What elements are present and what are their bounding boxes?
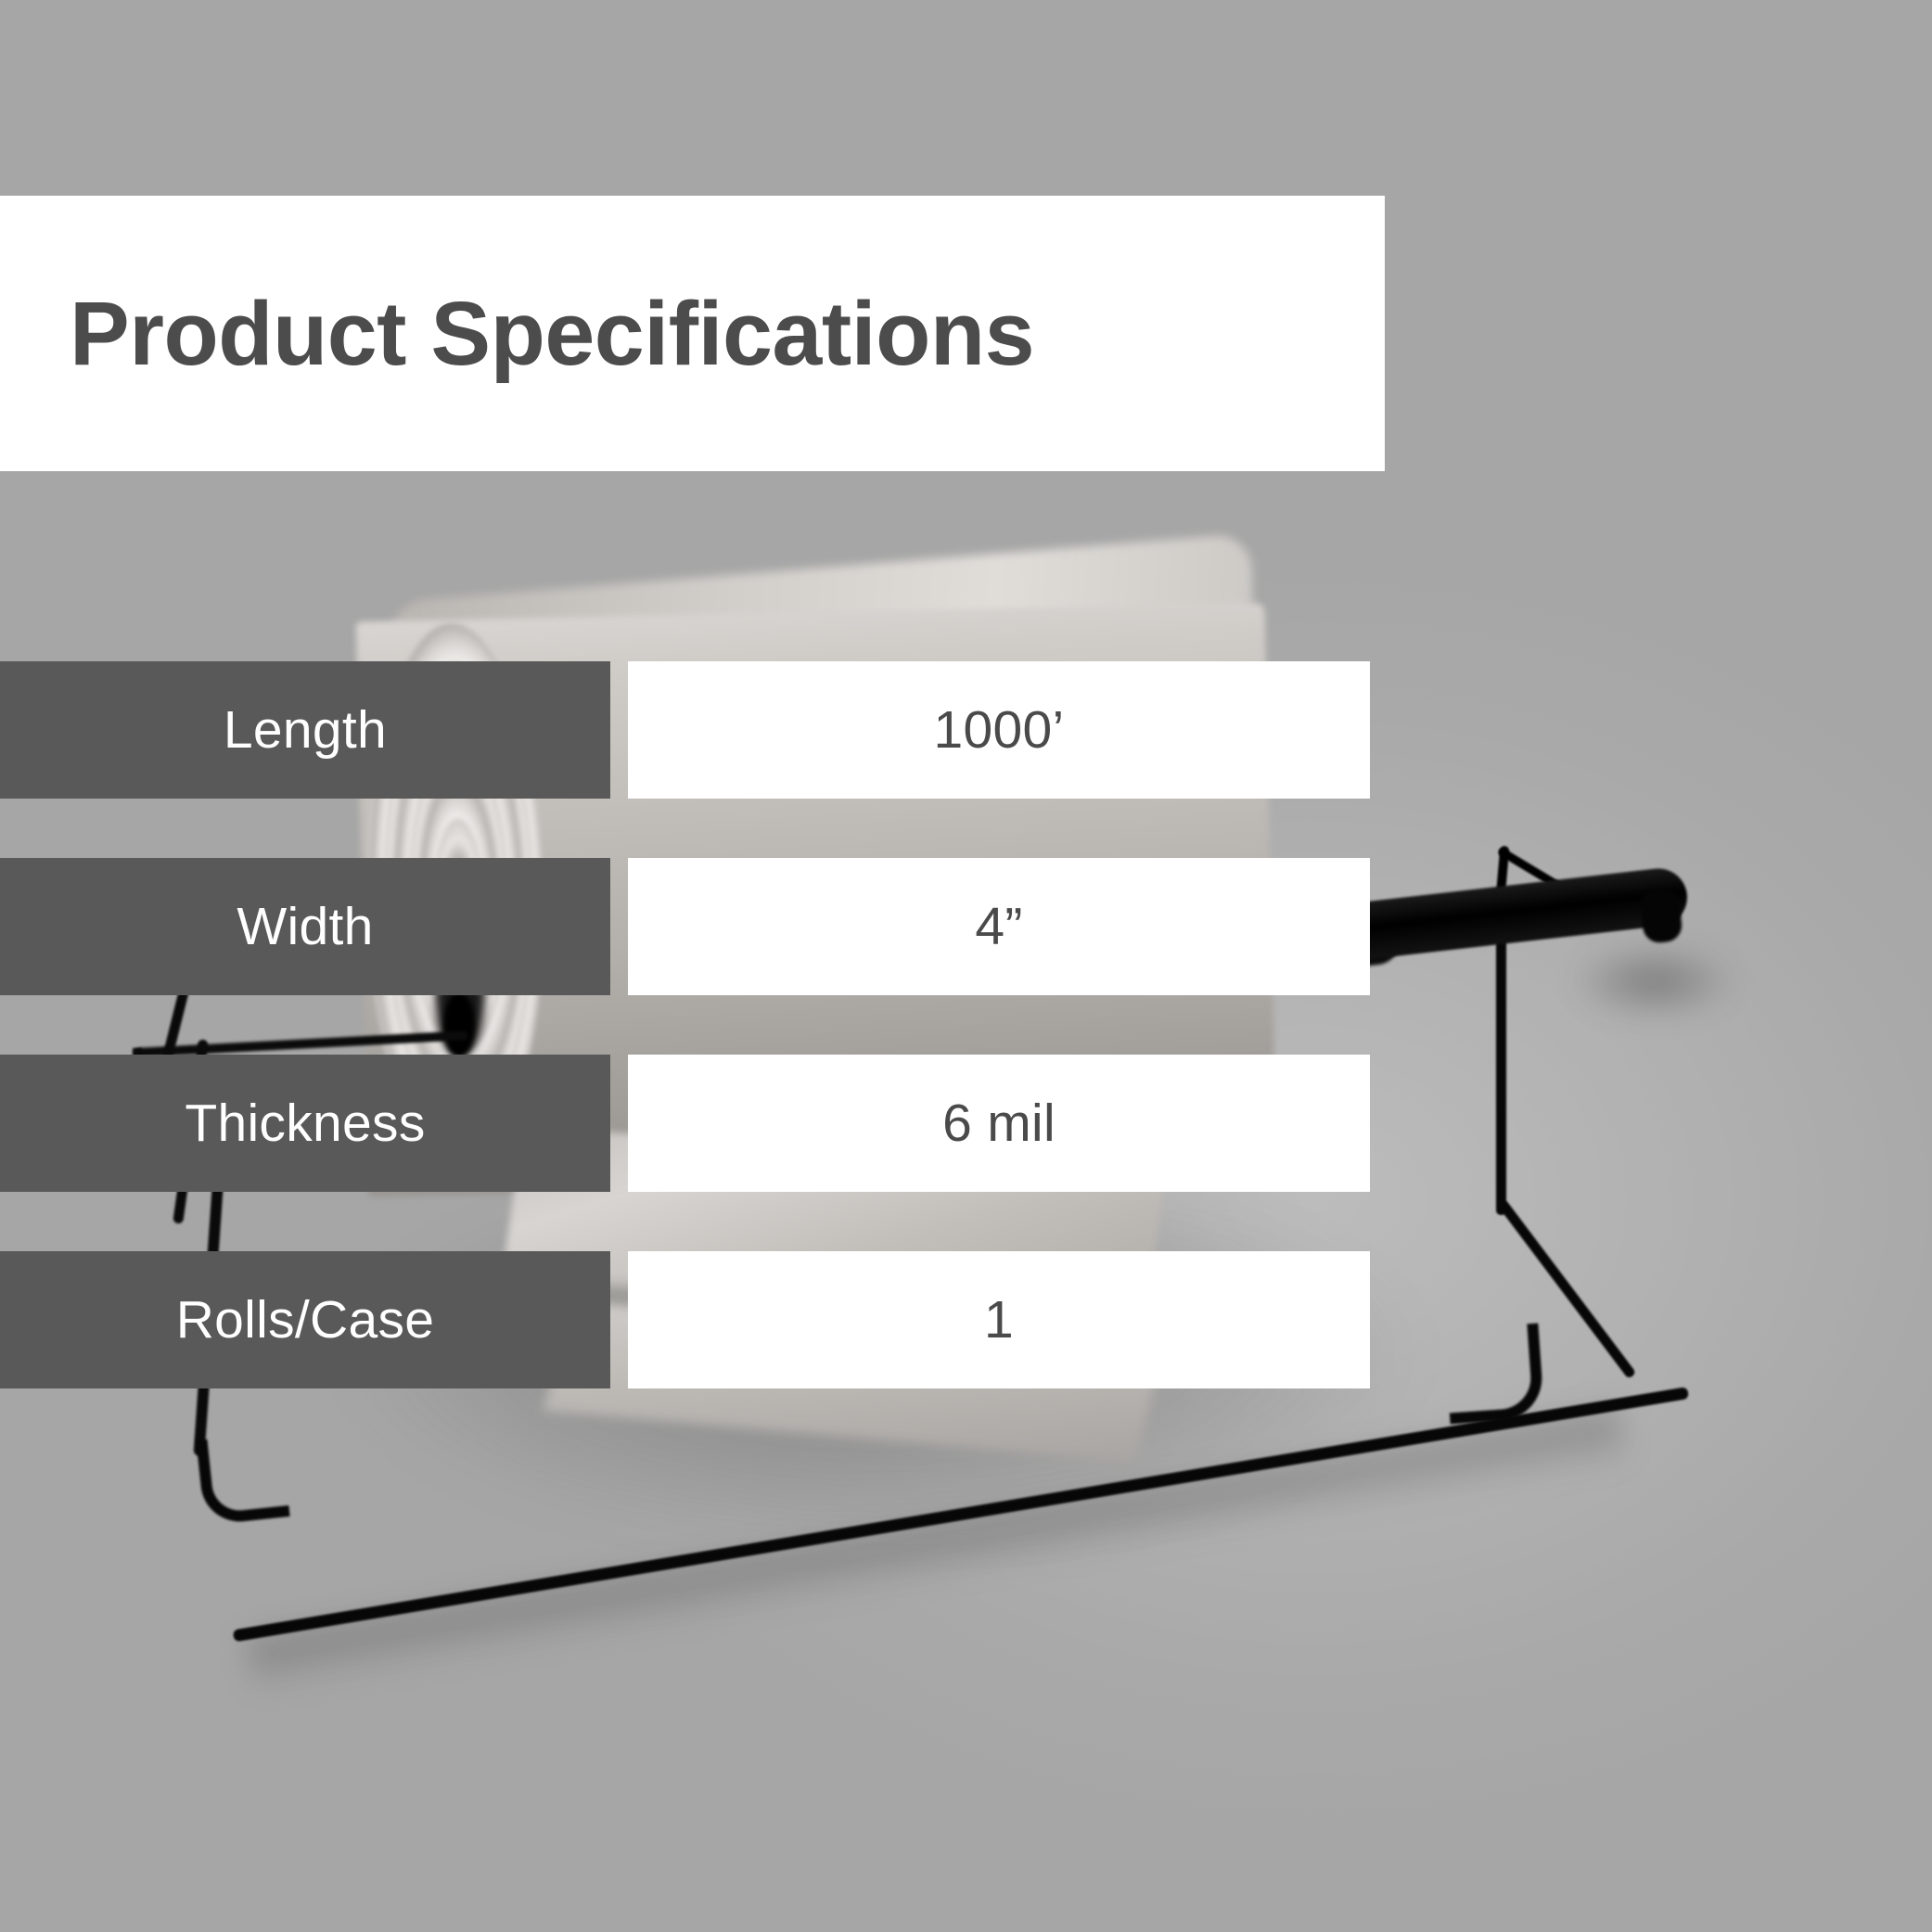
spec-label-rolls-per-case: Rolls/Case [0,1251,610,1388]
spec-label-length: Length [0,661,610,799]
spec-label-width: Width [0,858,610,995]
table-row: Width 4” [0,858,1410,995]
table-row: Length 1000’ [0,661,1410,799]
handle-bar-end-cap [1639,887,1683,944]
spec-label-thickness: Thickness [0,1055,610,1192]
page-title: Product Specifications [70,288,1034,378]
row-gap [610,858,628,995]
row-gap [610,1055,628,1192]
table-row: Thickness 6 mil [0,1055,1410,1192]
wire-leg-right-vertical [1496,918,1506,1215]
row-gap [610,1251,628,1388]
row-gap [610,661,628,799]
spec-value-thickness: 6 mil [628,1055,1370,1192]
specification-table: Length 1000’ Width 4” Thickness 6 mil Ro… [0,661,1410,1388]
handle-bar-shadow [1558,937,1799,1048]
spec-value-length: 1000’ [628,661,1370,799]
product-spec-card: Product Specifications Length 1000’ Widt… [0,0,1932,1932]
spec-value-rolls-per-case: 1 [628,1251,1370,1388]
table-row: Rolls/Case 1 [0,1251,1410,1388]
title-banner: Product Specifications [0,196,1385,471]
spec-value-width: 4” [628,858,1370,995]
